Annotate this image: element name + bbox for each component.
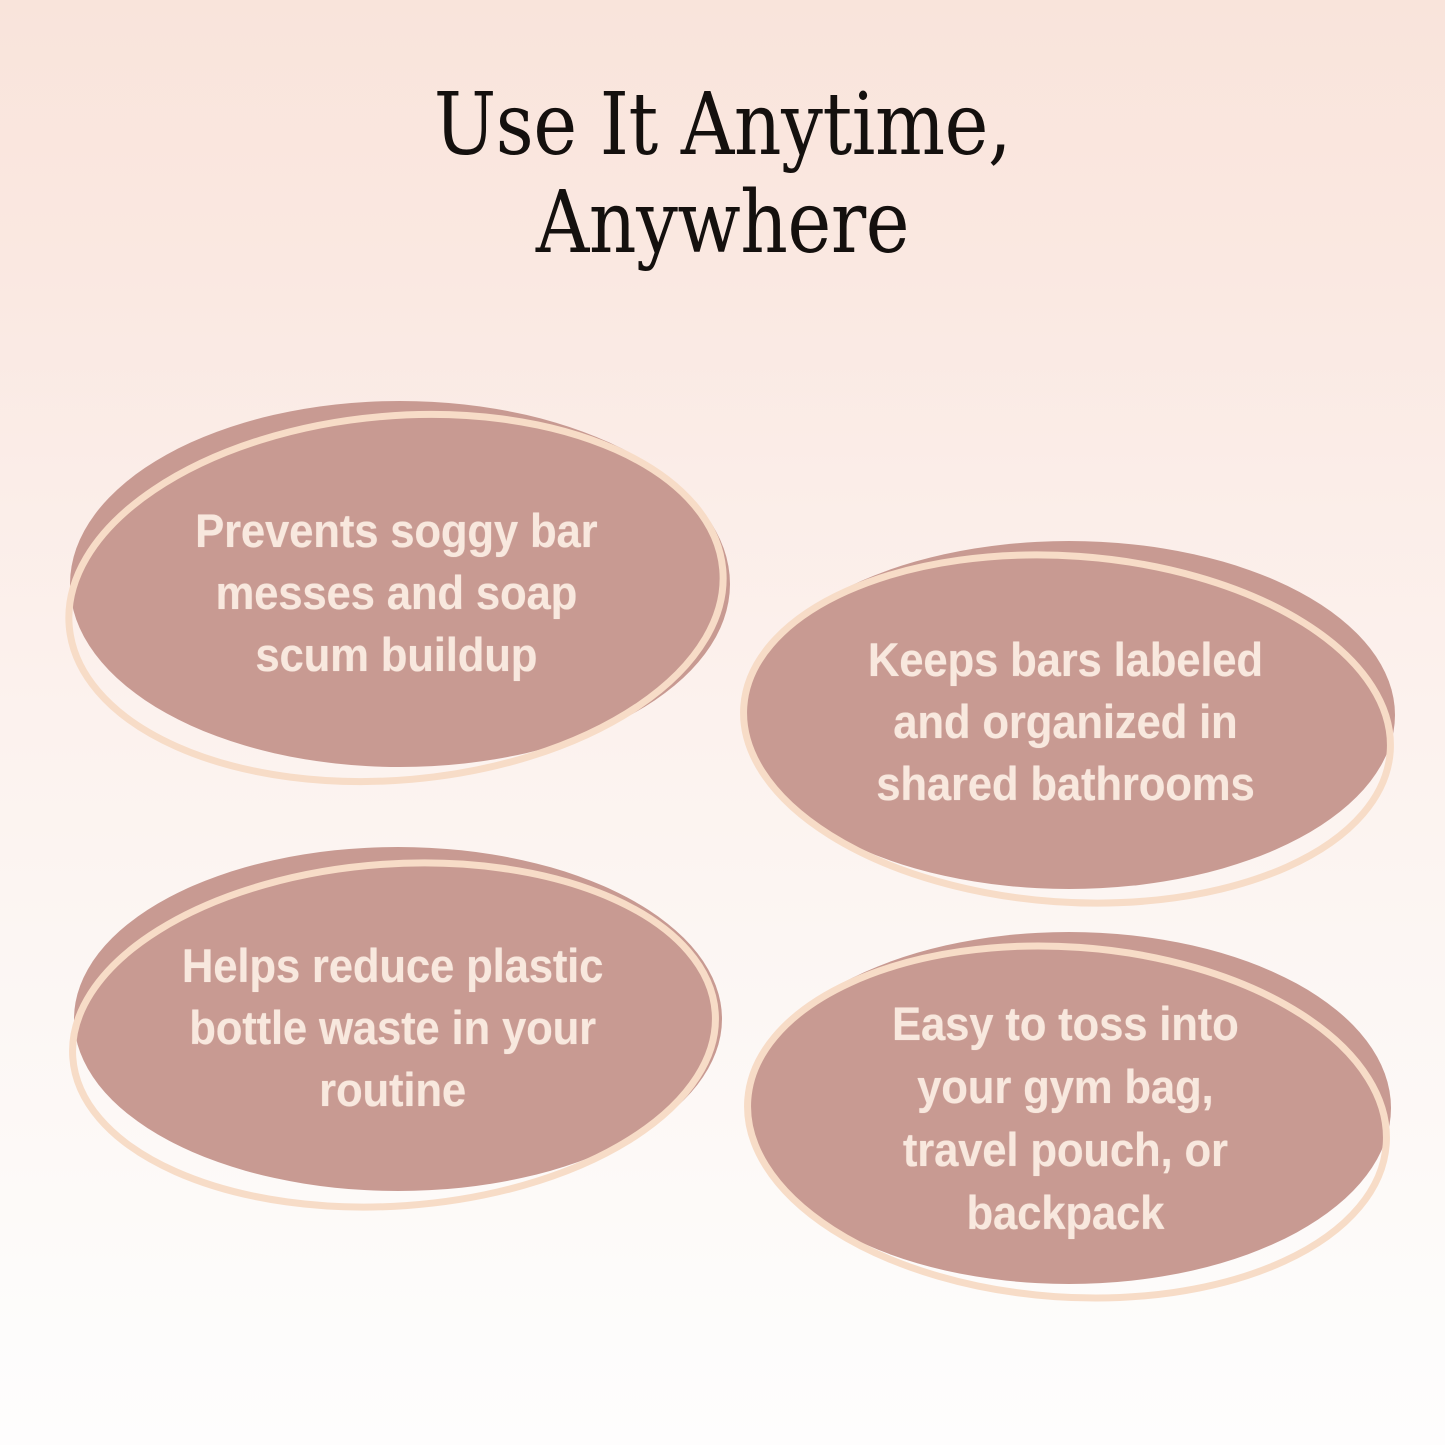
benefit-1-line-1: Prevents soggy bar xyxy=(195,500,597,562)
page-title: Use It Anytime, Anywhere xyxy=(0,76,1445,272)
benefit-1-line-2: messes and soap xyxy=(195,562,597,624)
benefit-4-line-1: Easy to toss into xyxy=(892,992,1239,1055)
page-title-line-1: Use It Anytime, xyxy=(101,76,1344,174)
benefit-oval-3: Helps reduce plastic bottle waste in you… xyxy=(60,845,725,1211)
benefit-1-line-3: scum buildup xyxy=(195,624,597,686)
infographic-page: Use It Anytime, Anywhere Prevents soggy … xyxy=(0,0,1445,1445)
benefit-2-line-2: and organized in xyxy=(867,691,1262,753)
benefit-4-line-3: travel pouch, or xyxy=(892,1118,1239,1181)
benefit-oval-1-text: Prevents soggy bar messes and soap scum … xyxy=(58,398,734,788)
page-title-line-2: Anywhere xyxy=(101,174,1344,272)
benefit-3-line-1: Helps reduce plastic xyxy=(182,935,603,997)
benefit-oval-1: Prevents soggy bar messes and soap scum … xyxy=(58,398,734,788)
benefit-3-line-2: bottle waste in your xyxy=(182,997,603,1059)
benefit-2-line-1: Keeps bars labeled xyxy=(867,629,1262,691)
benefit-4-line-4: backpack xyxy=(892,1181,1239,1244)
benefit-oval-2-text: Keeps bars labeled and organized in shar… xyxy=(731,537,1399,907)
benefit-oval-2: Keeps bars labeled and organized in shar… xyxy=(731,537,1399,907)
benefit-4-line-2: your gym bag, xyxy=(892,1055,1239,1118)
benefit-oval-4-text: Easy to toss into your gym bag, travel p… xyxy=(735,930,1395,1305)
benefit-3-line-3: routine xyxy=(182,1059,603,1121)
benefit-oval-3-text: Helps reduce plastic bottle waste in you… xyxy=(60,845,725,1211)
benefit-2-line-3: shared bathrooms xyxy=(867,753,1262,815)
benefit-oval-4: Easy to toss into your gym bag, travel p… xyxy=(735,930,1395,1305)
